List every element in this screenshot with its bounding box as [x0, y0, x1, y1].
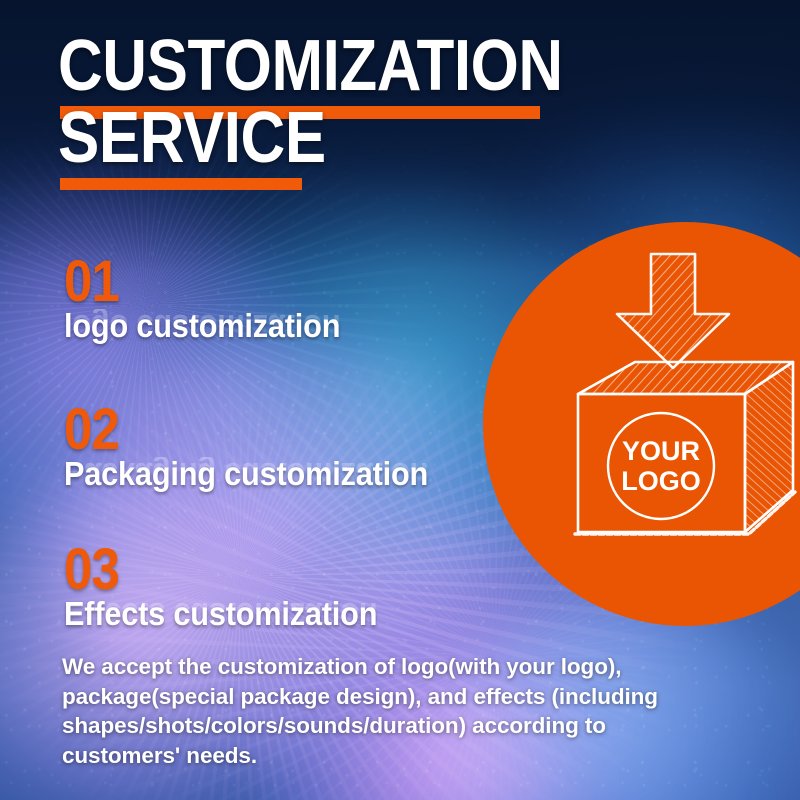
your-logo-line-1: YOUR: [622, 436, 700, 466]
promo-poster: CUSTOMIZATION SERVICE 01 logo customizat…: [0, 0, 800, 800]
orange-circle-badge: YOUR LOGO: [483, 222, 800, 626]
title-underline-bar-2: [60, 178, 302, 190]
service-item-label: logo customization: [64, 309, 340, 343]
page-title: CUSTOMIZATION SERVICE: [58, 36, 758, 169]
service-item-number: 03: [64, 544, 360, 595]
page-title-line-1: CUSTOMIZATION: [58, 36, 660, 96]
package-box-illustration: YOUR LOGO: [483, 222, 800, 626]
service-item-01: 01 logo customization logo customization: [64, 256, 361, 377]
service-item-label: Packaging customization: [64, 457, 428, 491]
service-item-03: 03 Effects customization Effects customi…: [64, 544, 401, 665]
service-item-label: Effects customization: [64, 597, 377, 631]
down-arrow-icon: [617, 254, 729, 368]
your-logo-line-2: LOGO: [621, 466, 701, 496]
description-paragraph: We accept the customization of logo(with…: [62, 652, 662, 771]
service-item-02: 02 Packaging customization Packaging cus…: [64, 404, 455, 525]
service-item-number: 01: [64, 256, 325, 307]
service-item-number: 02: [64, 404, 409, 455]
page-title-line-2: SERVICE: [58, 108, 660, 168]
